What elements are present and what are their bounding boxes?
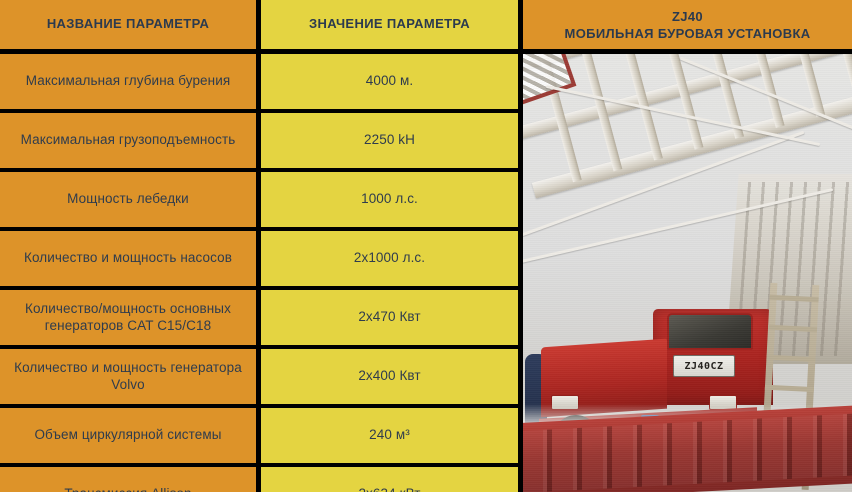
table-header-row: НАЗВАНИЕ ПАРАМЕТРА ЗНАЧЕНИЕ ПАРАМЕТРА	[0, 0, 518, 49]
parameter-value: 2250 kH	[261, 113, 518, 168]
parameter-name: Максимальная грузоподъемность	[0, 113, 256, 168]
table-row: Объем циркулярной системы 240 м³	[0, 408, 518, 463]
parameter-table: НАЗВАНИЕ ПАРАМЕТРА ЗНАЧЕНИЕ ПАРАМЕТРА Ма…	[0, 0, 518, 492]
parameter-value: 2х400 Квт	[261, 349, 518, 404]
parameter-value: 2х1000 л.с.	[261, 231, 518, 286]
table-row: Мощность лебедки 1000 л.с.	[0, 172, 518, 227]
column-header-parameter-value: ЗНАЧЕНИЕ ПАРАМЕТРА	[261, 0, 518, 49]
parameter-name: Количество и мощность генератора Volvo	[0, 349, 256, 404]
table-row: Максимальная глубина бурения 4000 м.	[0, 54, 518, 109]
table-row: Количество/мощность основных генераторов…	[0, 290, 518, 345]
column-header-parameter-name: НАЗВАНИЕ ПАРАМЕТРА	[0, 0, 256, 49]
parameter-value: 240 м³	[261, 408, 518, 463]
parameter-name: Количество/мощность основных генераторов…	[0, 290, 256, 345]
truck-license-plate: ZJ40CZ	[673, 355, 735, 377]
parameter-value: 4000 м.	[261, 54, 518, 109]
truck-windshield	[667, 313, 753, 350]
parameter-name: Объем циркулярной системы	[0, 408, 256, 463]
mast-rung	[660, 54, 703, 150]
rig-title: ZJ40 МОБИЛЬНАЯ БУРОВАЯ УСТАНОВКА	[523, 0, 852, 49]
photo-pane: ZJ40 МОБИЛЬНАЯ БУРОВАЯ УСТАНОВКА	[523, 0, 852, 492]
table-row: Количество и мощность насосов 2х1000 л.с…	[0, 231, 518, 286]
parameter-name: Мощность лебедки	[0, 172, 256, 227]
rig-title-subtitle: МОБИЛЬНАЯ БУРОВАЯ УСТАНОВКА	[565, 25, 811, 42]
table-row: Максимальная грузоподъемность 2250 kH	[0, 113, 518, 168]
spec-sheet: НАЗВАНИЕ ПАРАМЕТРА ЗНАЧЕНИЕ ПАРАМЕТРА Ма…	[0, 0, 852, 492]
parameter-name: Количество и мощность насосов	[0, 231, 256, 286]
parameter-name: Максимальная глубина бурения	[0, 54, 256, 109]
parameter-value: 1000 л.с.	[261, 172, 518, 227]
table-row: Трансмиссия Allison 2х634 кВт	[0, 467, 518, 492]
table-row: Количество и мощность генератора Volvo 2…	[0, 349, 518, 404]
parameter-value: 2х634 кВт	[261, 467, 518, 492]
parameter-name: Трансмиссия Allison	[0, 467, 256, 492]
rig-model-name: ZJ40	[672, 8, 703, 25]
truck-plate-text: ZJ40CZ	[684, 361, 723, 372]
parameter-value: 2х470 Квт	[261, 290, 518, 345]
rig-photo: ZJ40CZ	[523, 54, 852, 492]
